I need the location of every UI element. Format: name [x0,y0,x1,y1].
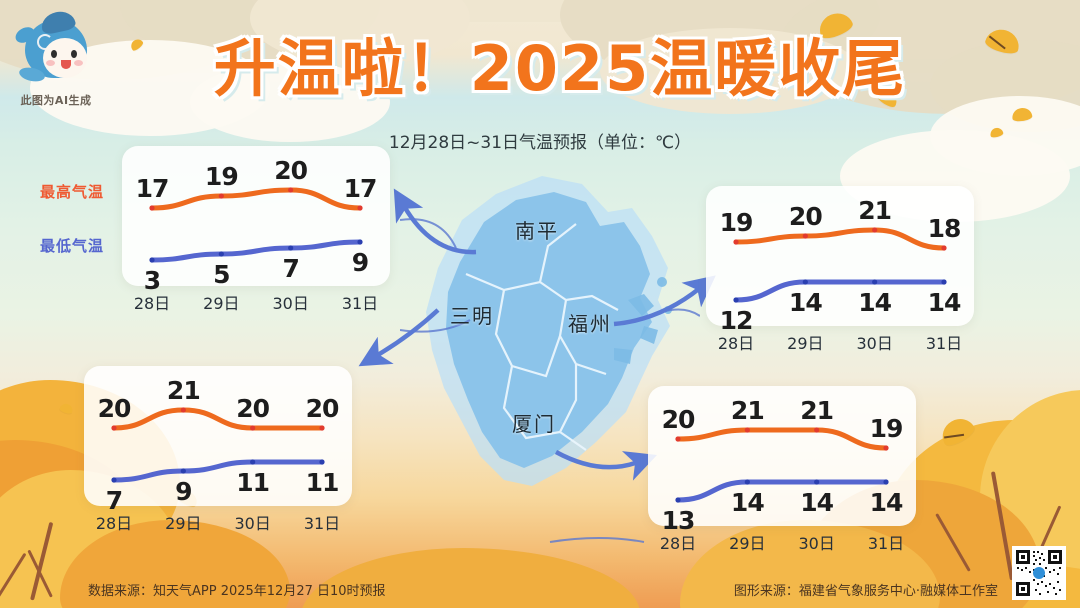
map-label-xiamen: 厦门 [512,408,556,437]
axis-day-label: 30日 [856,330,892,354]
high-temp-point [675,436,680,441]
axis-day-label: 30日 [272,290,308,314]
axis-day-label: 29日 [787,330,823,354]
low-temp-point [803,279,808,284]
low-temp-value: 14 [731,488,764,517]
low-temp-point [357,239,362,244]
low-temp-value: 11 [236,468,269,497]
footer-data-source: 数据来源：知天气APP 2025年12月27 日10时预报 [88,580,386,599]
axis-day-label: 28日 [96,510,132,534]
low-temp-value: 9 [175,477,191,506]
high-temp-value: 21 [167,376,200,405]
high-temp-line [152,190,360,208]
high-temp-point [814,427,819,432]
high-temp-line [678,430,886,448]
high-temp-value: 19 [870,414,903,443]
low-temp-point [149,257,154,262]
qr-code-icon [1014,548,1064,598]
high-temp-value: 19 [205,162,238,191]
high-temp-point [745,427,750,432]
low-temp-point [745,479,750,484]
high-temp-point [219,193,224,198]
low-temp-value: 14 [858,288,891,317]
high-temp-value: 20 [236,394,269,423]
low-temp-point [883,479,888,484]
high-temp-line [114,410,322,428]
axis-day-label: 30日 [234,510,270,534]
low-temp-point [288,245,293,250]
low-temp-point [319,459,324,464]
axis-day-label: 28日 [660,530,696,554]
axis-day-label: 28日 [718,330,754,354]
high-temp-value: 19 [720,208,753,237]
high-temp-point [941,245,946,250]
low-temp-value: 14 [800,488,833,517]
axis-day-label: 31日 [926,330,962,354]
low-temp-line [152,242,360,260]
low-temp-point [872,279,877,284]
high-temp-point [883,445,888,450]
low-temp-value: 5 [213,260,229,289]
high-temp-point [357,205,362,210]
low-temp-point [675,497,680,502]
high-temp-value: 21 [731,396,764,425]
high-temp-point [181,407,186,412]
xiamen-chart: 202121191314141428日29日30日31日 [648,386,916,526]
map-label-fuzhou: 福州 [568,308,612,337]
high-temp-point [803,233,808,238]
low-temp-value: 9 [352,248,368,277]
high-temp-point [733,239,738,244]
low-temp-line [114,462,322,480]
low-temp-point [181,468,186,473]
high-temp-point [250,425,255,430]
axis-day-label: 31日 [868,530,904,554]
high-temp-value: 21 [858,196,891,225]
high-temp-value: 21 [800,396,833,425]
axis-day-label: 31日 [304,510,340,534]
axis-day-label: 29日 [203,290,239,314]
low-temp-line [736,282,944,300]
low-temp-point [250,459,255,464]
axis-day-label: 29日 [729,530,765,554]
qr-code[interactable] [1012,546,1066,600]
page-title: 升温啦！2025温暖收尾 [160,20,960,106]
low-temp-value: 14 [789,288,822,317]
map-label-nanping: 南平 [515,215,559,244]
map-label-sanming: 三明 [450,300,494,329]
low-temp-point [814,479,819,484]
ai-generated-note: 此图为AI生成 [8,92,104,108]
legend-high-label: 最高气温 [40,181,104,202]
high-temp-value: 20 [662,405,695,434]
high-temp-line [736,230,944,248]
weather-mascot-icon [11,12,101,90]
low-temp-value: 7 [282,254,298,283]
footer-graphic-source: 图形来源：福建省气象服务中心·融媒体工作室 [734,580,998,599]
high-temp-value: 17 [136,174,169,203]
low-temp-value: 11 [306,468,339,497]
high-temp-value: 18 [928,214,961,243]
mascot-block: 此图为AI生成 [8,12,104,108]
low-temp-point [941,279,946,284]
infographic-canvas: 此图为AI生成 升温啦！2025温暖收尾 12月28日~31日气温预报（单位：℃… [0,0,1080,608]
high-temp-point [319,425,324,430]
high-temp-value: 20 [789,202,822,231]
axis-day-label: 30日 [798,530,834,554]
sanming-chart: 2021202079111128日29日30日31日 [84,366,352,506]
legend-low-label: 最低气温 [40,235,104,256]
nanping-chart-plot [122,146,390,286]
high-temp-point [111,425,116,430]
low-temp-value: 14 [870,488,903,517]
fuzhou-chart: 192021181214141428日29日30日31日 [706,186,974,326]
high-temp-value: 20 [306,394,339,423]
high-temp-point [149,205,154,210]
low-temp-line [678,482,886,500]
low-temp-point [733,297,738,302]
axis-day-label: 29日 [165,510,201,534]
nanping-chart: 17192017357928日29日30日31日 [122,146,390,286]
high-temp-value: 20 [274,156,307,185]
axis-day-label: 31日 [342,290,378,314]
high-temp-value: 17 [344,174,377,203]
high-temp-point [872,227,877,232]
axis-day-label: 28日 [134,290,170,314]
low-temp-value: 14 [928,288,961,317]
high-temp-value: 20 [98,394,131,423]
low-temp-point [111,477,116,482]
high-temp-point [288,187,293,192]
low-temp-point [219,251,224,256]
